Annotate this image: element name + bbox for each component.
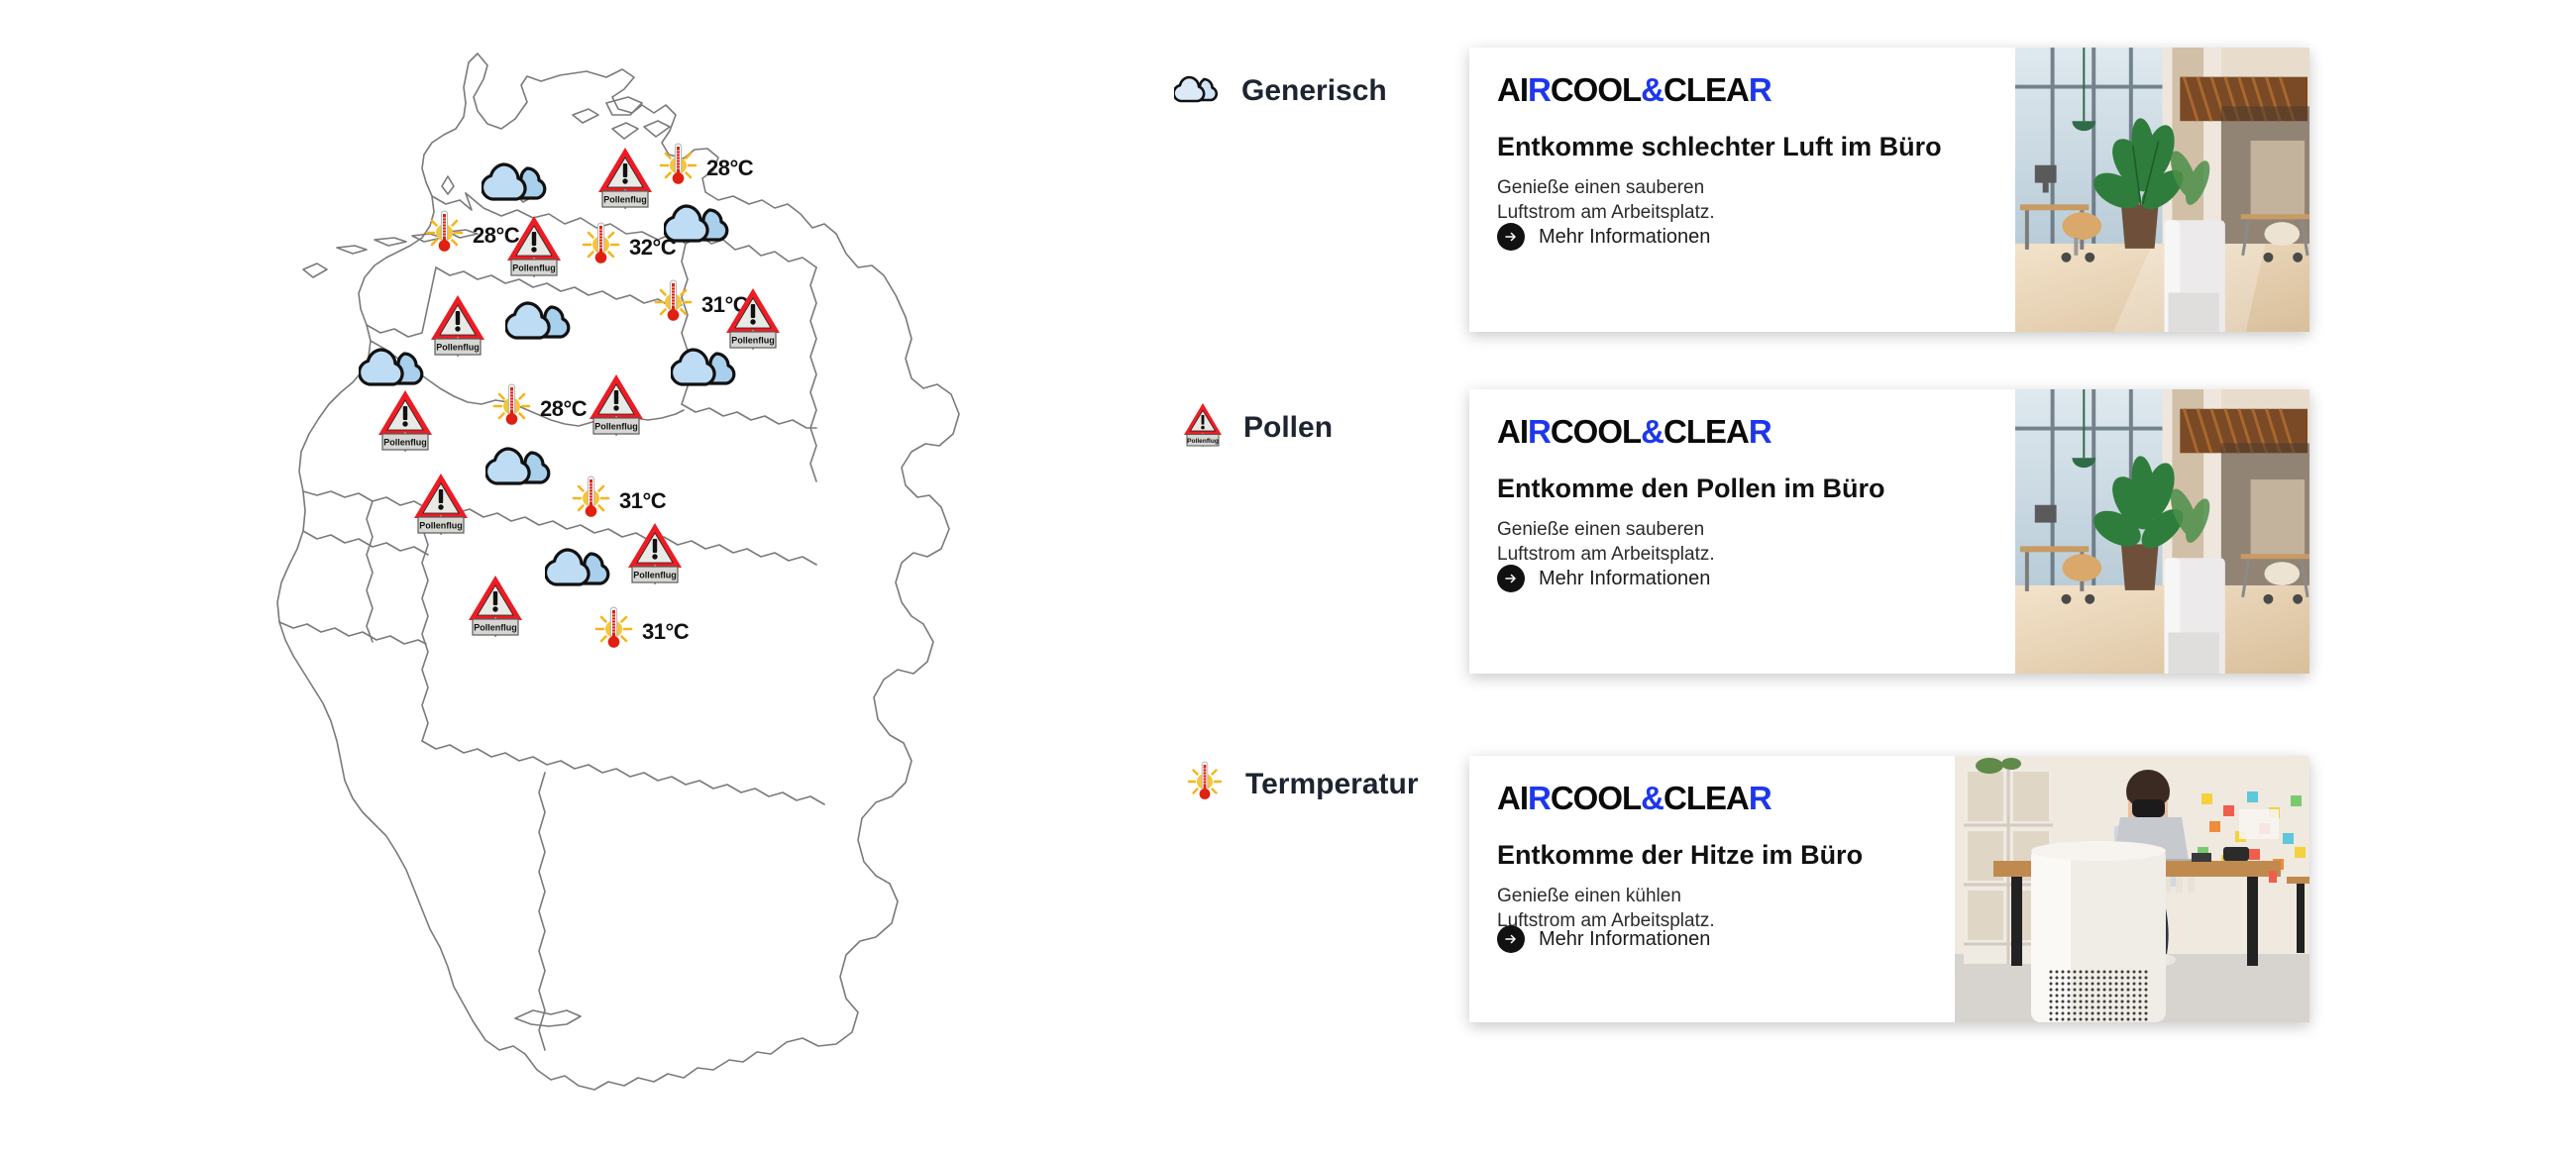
thermometer-sun-icon bbox=[1184, 758, 1226, 810]
map-pollen-warning[interactable]: Pollenflug bbox=[428, 292, 487, 365]
ad-subtext-line2: Luftstrom am Arbeitsplatz. bbox=[1497, 542, 2015, 567]
temperature-value: 31°C bbox=[642, 619, 689, 645]
arrow-right-icon bbox=[1497, 565, 1525, 592]
thermometer-sun-icon bbox=[490, 381, 534, 436]
temperature-value: 28°C bbox=[706, 156, 753, 181]
thermometer-sun-icon bbox=[570, 474, 613, 528]
map-temperature-reading[interactable]: 28°C bbox=[657, 141, 753, 195]
svg-text:Pollenflug: Pollenflug bbox=[474, 622, 517, 632]
svg-text:Pollenflug: Pollenflug bbox=[383, 437, 427, 447]
pollen-warning-icon: Pollenflug bbox=[625, 520, 685, 592]
ad-headline: Entkomme schlechter Luft im Büro bbox=[1497, 132, 2015, 162]
pollen-warning-icon: Pollenflug bbox=[411, 471, 471, 543]
svg-text:Pollenflug: Pollenflug bbox=[436, 342, 480, 352]
map-cloud-icon[interactable] bbox=[505, 295, 579, 352]
svg-text:Pollenflug: Pollenflug bbox=[1187, 438, 1219, 445]
map-cloud-icon[interactable] bbox=[482, 157, 555, 213]
map-temperature-reading[interactable]: 28°C bbox=[490, 381, 587, 436]
legend-label: Termperatur bbox=[1245, 768, 1419, 801]
ad-headline: Entkomme der Hitze im Büro bbox=[1497, 840, 1955, 871]
ad-image-office-plant-purifier bbox=[2015, 48, 2309, 332]
cloud-icon bbox=[505, 295, 579, 352]
svg-text:Pollenflug: Pollenflug bbox=[633, 570, 677, 579]
svg-text:Pollenflug: Pollenflug bbox=[419, 520, 463, 530]
map-temperature-reading[interactable]: 32°C bbox=[580, 220, 676, 274]
temperature-value: 28°C bbox=[540, 396, 587, 422]
map-pollen-warning[interactable]: Pollenflug bbox=[411, 471, 471, 543]
cloud-icon bbox=[1174, 69, 1222, 112]
arrow-right-icon bbox=[1497, 925, 1525, 953]
thermometer-sun-icon bbox=[592, 604, 636, 659]
map-temperature-reading[interactable]: 31°C bbox=[592, 604, 689, 659]
thermometer-sun-icon bbox=[652, 277, 696, 332]
legend-item-pollen[interactable]: Pollenflug Pollen bbox=[1182, 401, 1333, 454]
cloud-icon bbox=[485, 441, 559, 497]
map-pollen-warning[interactable]: Pollenflug bbox=[466, 573, 525, 645]
brand-logo: AIRCOOL&CLEAR bbox=[1497, 782, 1955, 814]
map-pollen-warning[interactable]: Pollenflug bbox=[376, 387, 435, 460]
cloud-icon bbox=[482, 157, 555, 213]
ad-cta[interactable]: Mehr Informationen bbox=[1497, 565, 1710, 592]
arrow-right-icon bbox=[1497, 223, 1525, 251]
ad-cta-label: Mehr Informationen bbox=[1539, 568, 1710, 590]
svg-text:Pollenflug: Pollenflug bbox=[603, 194, 647, 204]
pollen-warning-icon: Pollenflug bbox=[1182, 401, 1224, 454]
cloud-icon bbox=[545, 542, 618, 598]
ad-text-block: AIRCOOL&CLEAR Entkomme schlechter Luft i… bbox=[1469, 48, 2015, 332]
ad-subtext-line1: Genieße einen sauberen bbox=[1497, 175, 2015, 200]
pollen-warning-icon: Pollenflug bbox=[504, 213, 564, 285]
ad-cta[interactable]: Mehr Informationen bbox=[1497, 223, 1710, 251]
ad-subtext-line2: Luftstrom am Arbeitsplatz. bbox=[1497, 200, 2015, 225]
ad-image-office-plant-purifier bbox=[2015, 389, 2309, 674]
map-cloud-icon[interactable] bbox=[485, 441, 559, 497]
ad-headline: Entkomme den Pollen im Büro bbox=[1497, 474, 2015, 504]
cloud-icon bbox=[664, 198, 737, 255]
ad-image-masked-worker-purifier bbox=[1955, 756, 2309, 1022]
temperature-value: 31°C bbox=[619, 488, 666, 514]
ad-card-generisch[interactable]: AIRCOOL&CLEAR Entkomme schlechter Luft i… bbox=[1469, 48, 2309, 332]
map-pollen-warning[interactable]: Pollenflug bbox=[587, 371, 646, 444]
pollen-warning-icon: Pollenflug bbox=[595, 145, 655, 217]
map-cloud-icon[interactable] bbox=[671, 342, 744, 398]
map-pollen-warning[interactable]: Pollenflug bbox=[625, 520, 685, 592]
legend-label: Pollen bbox=[1243, 411, 1333, 445]
map-cloud-icon[interactable] bbox=[545, 542, 618, 598]
ad-cta-label: Mehr Informationen bbox=[1539, 226, 1710, 249]
brand-logo: AIRCOOL&CLEAR bbox=[1497, 415, 2015, 448]
thermometer-sun-icon bbox=[423, 208, 467, 263]
thermometer-sun-icon bbox=[657, 141, 700, 195]
svg-text:Pollenflug: Pollenflug bbox=[512, 263, 556, 272]
map-pollen-warning[interactable]: Pollenflug bbox=[595, 145, 655, 217]
pollen-warning-icon: Pollenflug bbox=[587, 371, 646, 444]
legend-item-temperatur[interactable]: Termperatur bbox=[1184, 758, 1419, 810]
cloud-icon bbox=[671, 342, 744, 398]
ad-subtext-line1: Genieße einen kühlen bbox=[1497, 884, 1955, 908]
svg-text:Pollenflug: Pollenflug bbox=[594, 421, 638, 431]
ad-cta-label: Mehr Informationen bbox=[1539, 928, 1710, 951]
ad-subtext: Genieße einen sauberen Luftstrom am Arbe… bbox=[1497, 175, 2015, 225]
brand-logo: AIRCOOL&CLEAR bbox=[1497, 73, 2015, 106]
pollen-warning-icon: Pollenflug bbox=[428, 292, 487, 365]
ad-subtext: Genieße einen sauberen Luftstrom am Arbe… bbox=[1497, 517, 2015, 567]
page-root: Pollenflug 28°C 28°C Pollenflug bbox=[0, 0, 2576, 1159]
map-cloud-icon[interactable] bbox=[664, 198, 737, 255]
ad-card-pollen[interactable]: AIRCOOL&CLEAR Entkomme den Pollen im Bür… bbox=[1469, 389, 2309, 674]
map-pollen-warning[interactable]: Pollenflug bbox=[504, 213, 564, 285]
legend-label: Generisch bbox=[1241, 74, 1387, 108]
ad-subtext-line1: Genieße einen sauberen bbox=[1497, 517, 2015, 542]
ad-text-block: AIRCOOL&CLEAR Entkomme der Hitze im Büro… bbox=[1469, 756, 1955, 1022]
weather-map-panel: Pollenflug 28°C 28°C Pollenflug bbox=[0, 0, 1090, 1159]
ad-cta[interactable]: Mehr Informationen bbox=[1497, 925, 1710, 953]
pollen-warning-icon: Pollenflug bbox=[376, 387, 435, 460]
legend-item-generisch[interactable]: Generisch bbox=[1174, 69, 1387, 112]
ad-text-block: AIRCOOL&CLEAR Entkomme den Pollen im Bür… bbox=[1469, 389, 2015, 674]
thermometer-sun-icon bbox=[580, 220, 623, 274]
ad-card-temperatur[interactable]: AIRCOOL&CLEAR Entkomme der Hitze im Büro… bbox=[1469, 756, 2309, 1022]
pollen-warning-icon: Pollenflug bbox=[466, 573, 525, 645]
